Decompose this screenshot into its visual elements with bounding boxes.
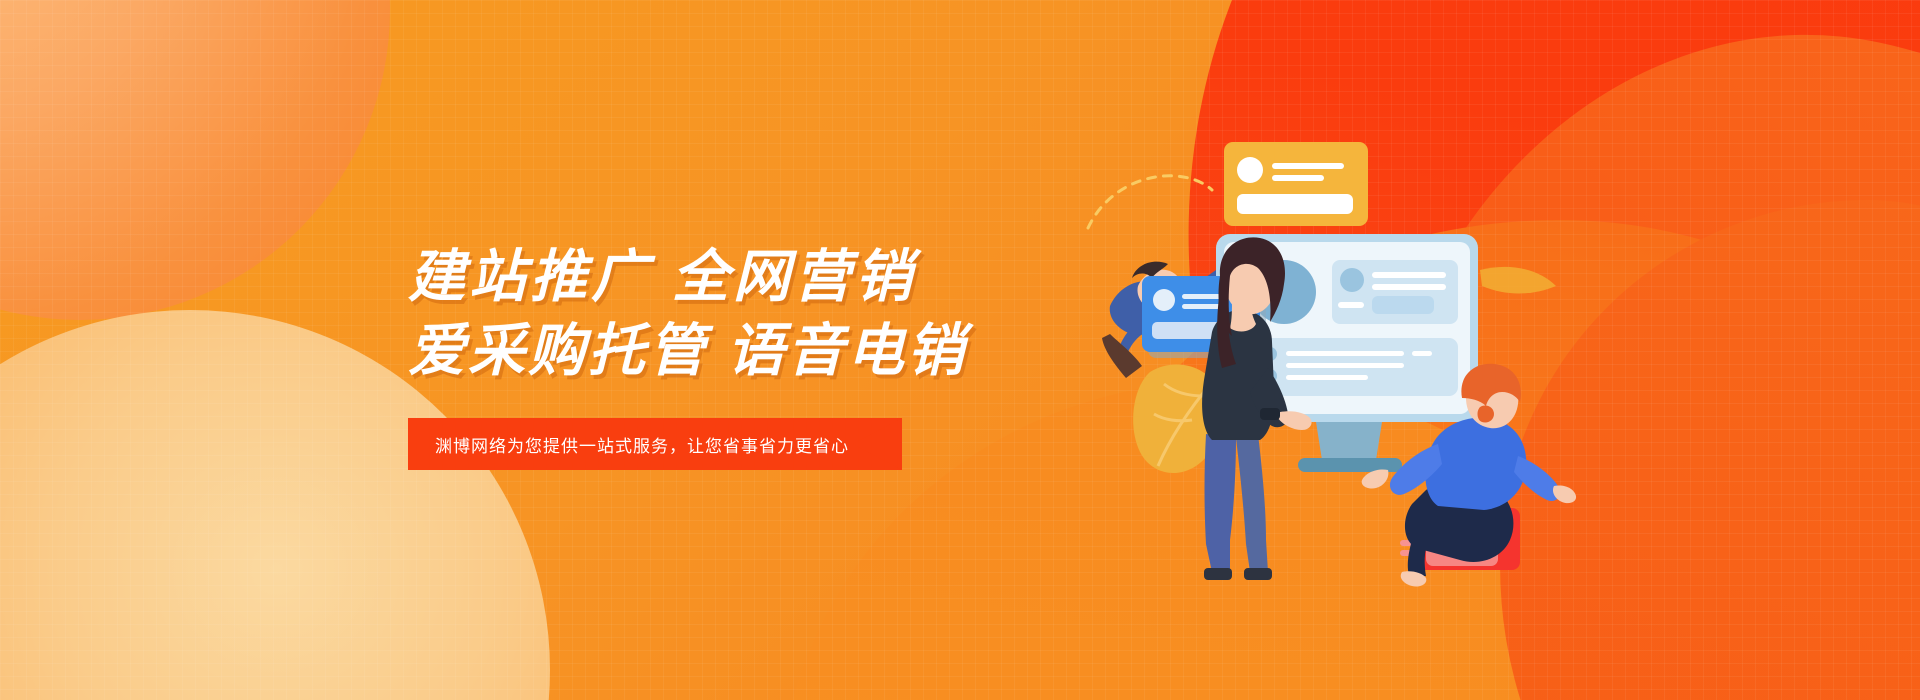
subtitle-ribbon: 渊博网络为您提供一站式服务，让您省事省力更省心 <box>408 418 902 470</box>
headline-line-1: 建站推广 全网营销 <box>408 240 967 314</box>
leaf-right-icon <box>1480 267 1556 294</box>
background-circle-top-left <box>0 0 390 320</box>
headline-block: 建站推广 全网营销 爱采购托管 语音电销 <box>408 240 967 388</box>
monitor-stand <box>1298 422 1402 472</box>
promo-banner: 建站推广 全网营销 爱采购托管 语音电销 渊博网络为您提供一站式服务，让您省事省… <box>0 0 1920 700</box>
yellow-card <box>1224 142 1368 226</box>
hero-illustration <box>1120 120 1600 620</box>
headline-line-2: 爱采购托管 语音电销 <box>408 314 967 388</box>
subtitle-ribbon-text: 渊博网络为您提供一站式服务，让您省事省力更省心 <box>408 432 849 457</box>
